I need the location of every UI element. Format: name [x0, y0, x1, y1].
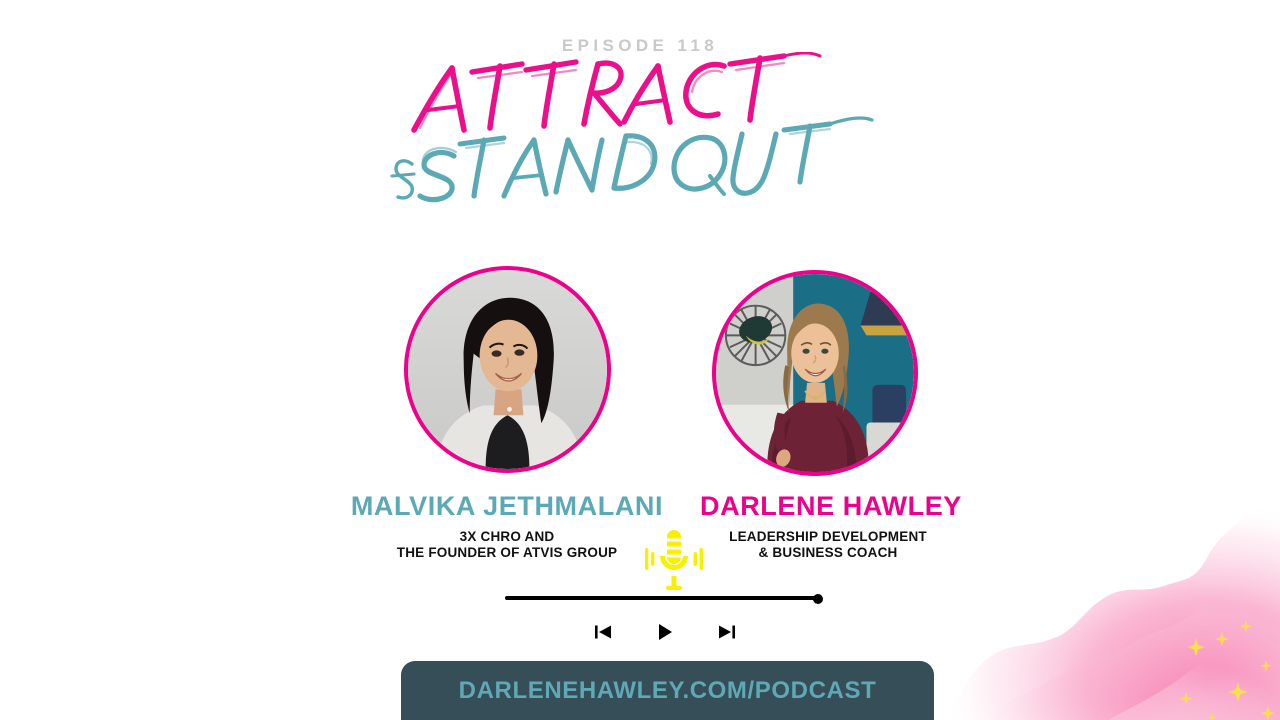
- playback-progress-slider[interactable]: [505, 594, 823, 602]
- microphone-icon: [644, 528, 704, 594]
- play-button[interactable]: [654, 621, 676, 643]
- show-title-logo: ATTRACT: [0, 52, 1280, 217]
- guest-name-left: MALVIKA JETHMALANI: [340, 490, 674, 522]
- guest-role-left: 3X CHRO AND THE FOUNDER OF ATVIS GROUP: [340, 529, 674, 560]
- guest-role-left-line1: 3X CHRO AND: [340, 529, 674, 545]
- podcast-url-bar[interactable]: DARLENEHAWLEY.COM/PODCAST: [401, 661, 934, 720]
- progress-knob[interactable]: [813, 594, 823, 604]
- podcast-episode-graphic: EPISODE 118 ATTRACT: [0, 0, 1280, 720]
- watercolor-decoration: [950, 460, 1280, 720]
- podcast-url-text: DARLENEHAWLEY.COM/PODCAST: [459, 677, 877, 705]
- guest-info-left: MALVIKA JETHMALANI 3X CHRO AND THE FOUND…: [340, 490, 674, 560]
- guest-name-right: DARLENE HAWLEY: [700, 490, 956, 522]
- guest-role-left-line2: THE FOUNDER OF ATVIS GROUP: [340, 545, 674, 561]
- guest-role-right-line1: LEADERSHIP DEVELOPMENT: [700, 529, 956, 545]
- guest-photo-left-image: [408, 270, 607, 469]
- sparkle-group: [1179, 620, 1275, 720]
- skip-previous-icon: [594, 624, 612, 640]
- play-icon: [657, 623, 673, 641]
- attract-and-stand-out-lettering: ATTRACT: [380, 52, 900, 217]
- guest-photo-malvika: [404, 266, 611, 473]
- guest-info-right: DARLENE HAWLEY LEADERSHIP DEVELOPMENT & …: [700, 490, 956, 560]
- guest-role-right: LEADERSHIP DEVELOPMENT & BUSINESS COACH: [700, 529, 956, 560]
- previous-track-button[interactable]: [592, 621, 614, 643]
- progress-track[interactable]: [505, 596, 817, 600]
- skip-next-icon: [718, 624, 736, 640]
- logo-line1-strokes: [414, 53, 820, 130]
- guest-photo-darlene: [712, 270, 918, 476]
- guest-role-right-line2: & BUSINESS COACH: [700, 545, 956, 561]
- guest-photo-right-image: [716, 274, 914, 472]
- player-controls: [570, 620, 760, 644]
- next-track-button[interactable]: [716, 621, 738, 643]
